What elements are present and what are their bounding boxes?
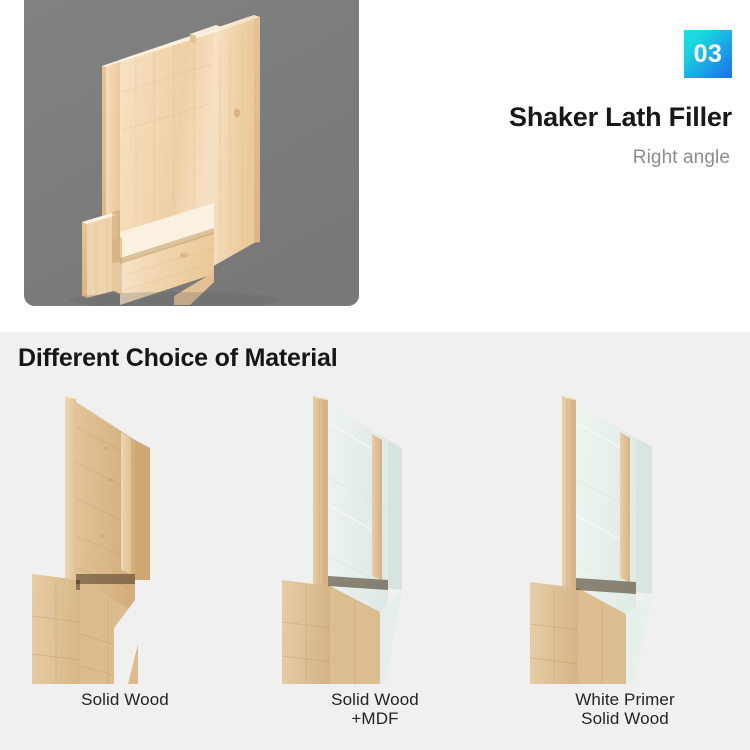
material-label: Solid Wood +MDF	[331, 690, 419, 728]
material-figure	[260, 384, 490, 684]
hero-section: 03 Shaker Lath Filler Right angle	[0, 0, 750, 332]
hero-title-block: 03 Shaker Lath Filler Right angle	[312, 30, 732, 169]
material-figure	[10, 384, 240, 684]
page-title: Shaker Lath Filler	[312, 103, 732, 133]
product-photo-card	[24, 0, 359, 306]
white-primer-solid-wood-sample	[510, 384, 740, 684]
materials-section: Different Choice of Material	[0, 332, 750, 750]
step-number-badge: 03	[684, 30, 732, 78]
shaker-lath-filler-door-corner-photo	[24, 0, 359, 306]
material-label: White Primer Solid Wood	[575, 690, 674, 728]
page-subtitle: Right angle	[312, 147, 730, 169]
materials-heading: Different Choice of Material	[18, 344, 337, 373]
material-option-white-primer-solid-wood: White Primer Solid Wood	[500, 384, 750, 750]
materials-row: Solid Wood	[0, 384, 750, 750]
material-option-solid-wood-mdf: Solid Wood +MDF	[250, 384, 500, 750]
material-option-solid-wood: Solid Wood	[0, 384, 250, 750]
material-figure	[510, 384, 740, 684]
solid-wood-sample	[10, 384, 240, 684]
solid-wood-mdf-sample	[260, 384, 490, 684]
product-infographic-page: 03 Shaker Lath Filler Right angle Differ…	[0, 0, 750, 750]
material-label: Solid Wood	[81, 690, 169, 709]
